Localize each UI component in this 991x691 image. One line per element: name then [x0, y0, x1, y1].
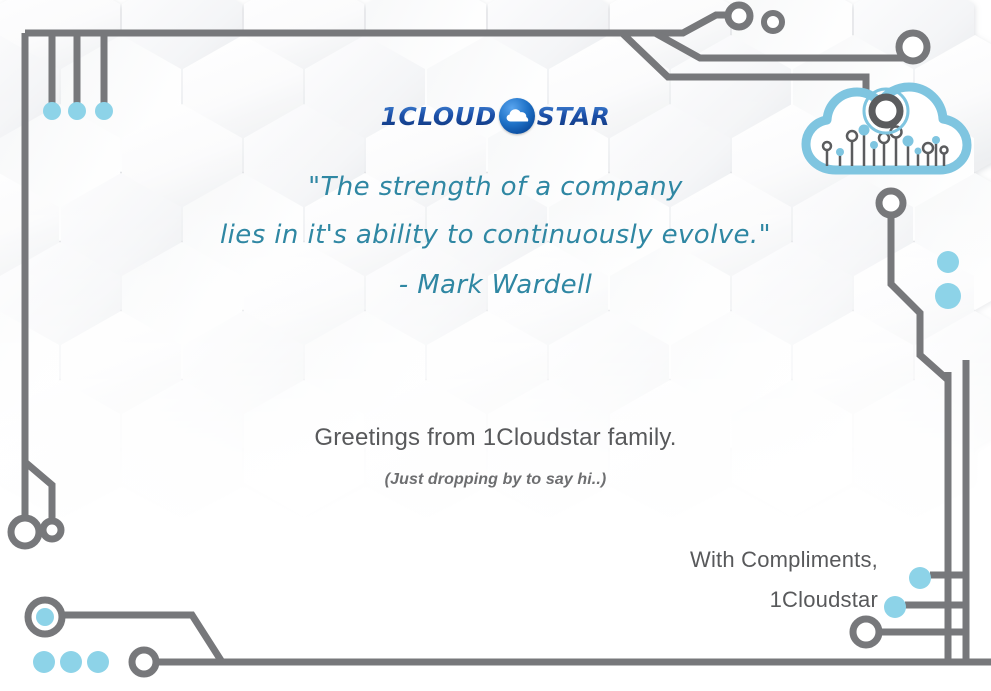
signoff-compliments: With Compliments, [690, 547, 878, 573]
greeting-block: Greetings from 1Cloudstar family. (Just … [0, 424, 991, 489]
greeting-sub-text: (Just dropping by to say hi..) [0, 471, 991, 489]
quote-block: "The strength of a company lies in it's … [0, 163, 991, 309]
signoff-block: With Compliments, 1Cloudstar [690, 547, 878, 613]
greeting-main-text: Greetings from 1Cloudstar family. [0, 424, 991, 452]
logo-text-right: STAR [537, 104, 611, 129]
greeting-card: 1CLOUD STAR "The strength of a company l… [0, 0, 991, 691]
cloud-badge-icon [499, 98, 535, 134]
quote-line-2: lies in it's ability to continuously evo… [0, 211, 991, 259]
brand-logo: 1CLOUD STAR [0, 98, 991, 134]
logo-text-left: 1CLOUD [381, 104, 497, 129]
quote-line-1: "The strength of a company [0, 163, 991, 211]
signoff-company: 1Cloudstar [690, 587, 878, 613]
quote-author: - Mark Wardell [0, 261, 991, 309]
